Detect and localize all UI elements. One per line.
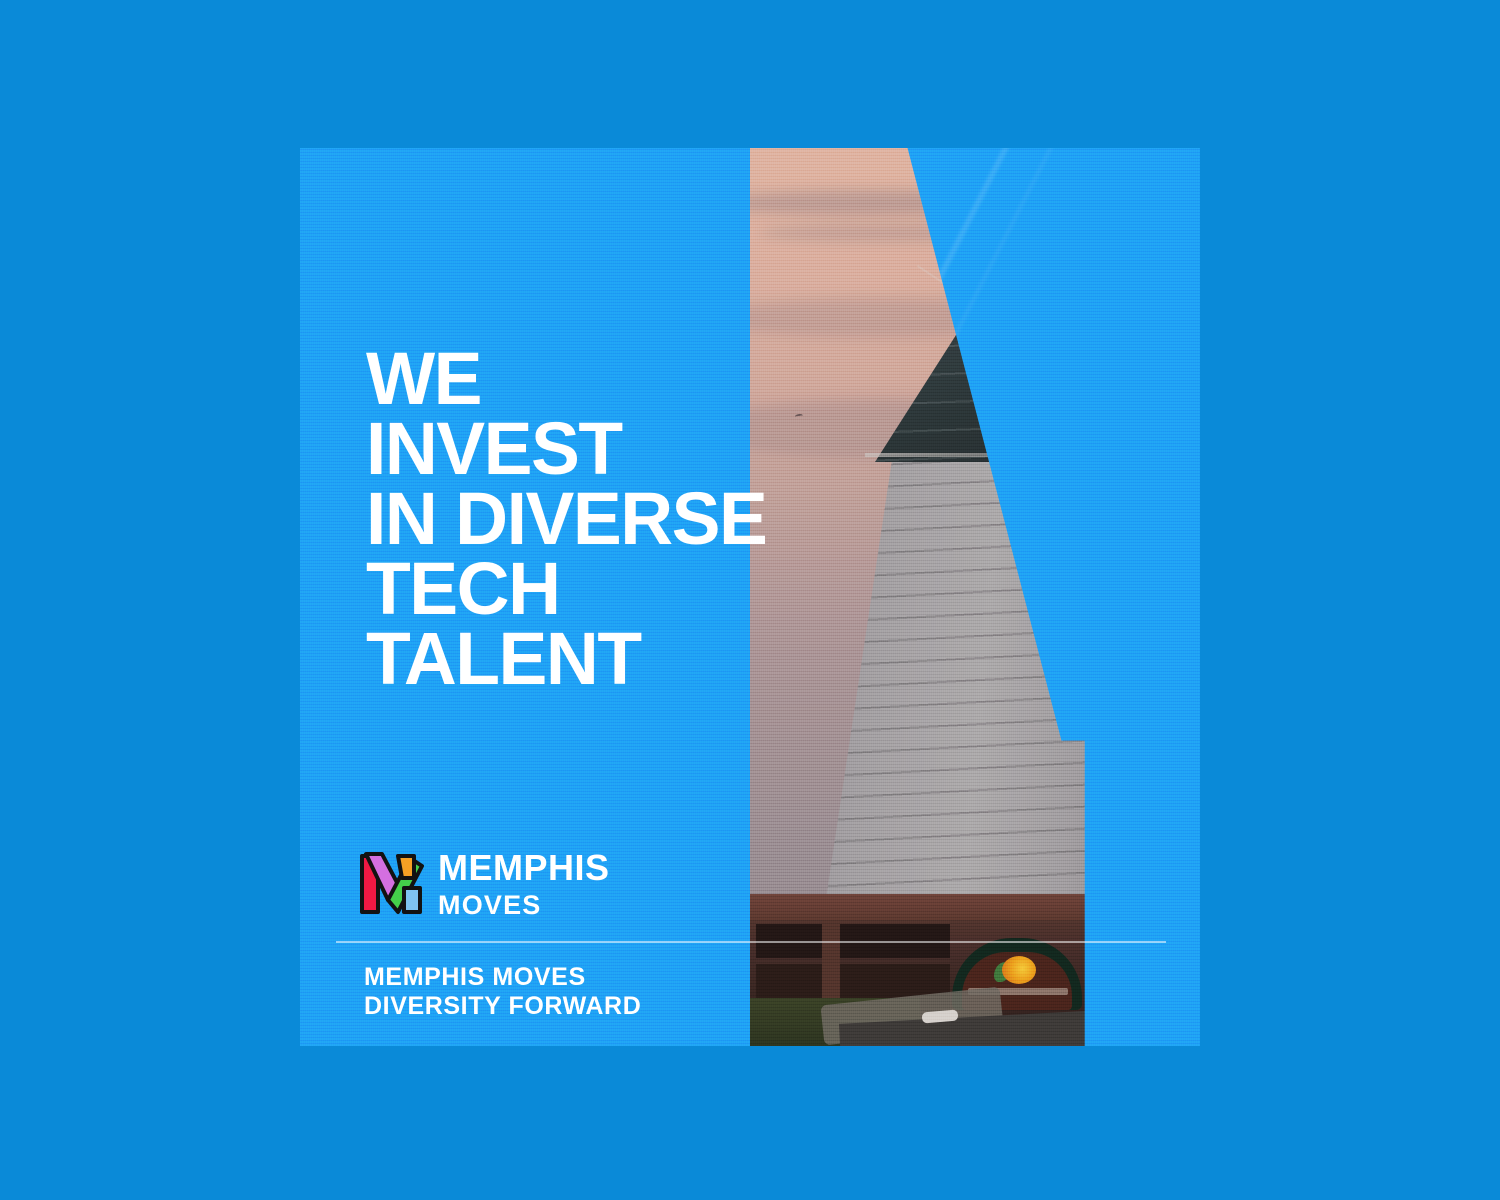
- footer-divider: [336, 941, 1166, 943]
- brick-building: [750, 894, 1108, 1046]
- memphis-moves-logo: MEMPHIS MOVES: [358, 848, 610, 920]
- memphis-moves-m-monogram-icon: [358, 848, 424, 920]
- headline: WE INVEST IN DIVERSE TECH TALENT: [366, 344, 1148, 694]
- sign-sun-icon: [1002, 956, 1036, 984]
- wordmark-line-memphis: MEMPHIS: [438, 850, 610, 886]
- wordmark-line-moves: MOVES: [438, 892, 610, 919]
- brick-parapet: [750, 894, 1108, 920]
- footer-tagline: MEMPHIS MOVES DIVERSITY FORWARD: [364, 963, 641, 1020]
- memphis-moves-wordmark: MEMPHIS MOVES: [438, 850, 610, 919]
- ad-creative-card: WE INVEST IN DIVERSE TECH TALENT MEMPHIS…: [300, 148, 1200, 1046]
